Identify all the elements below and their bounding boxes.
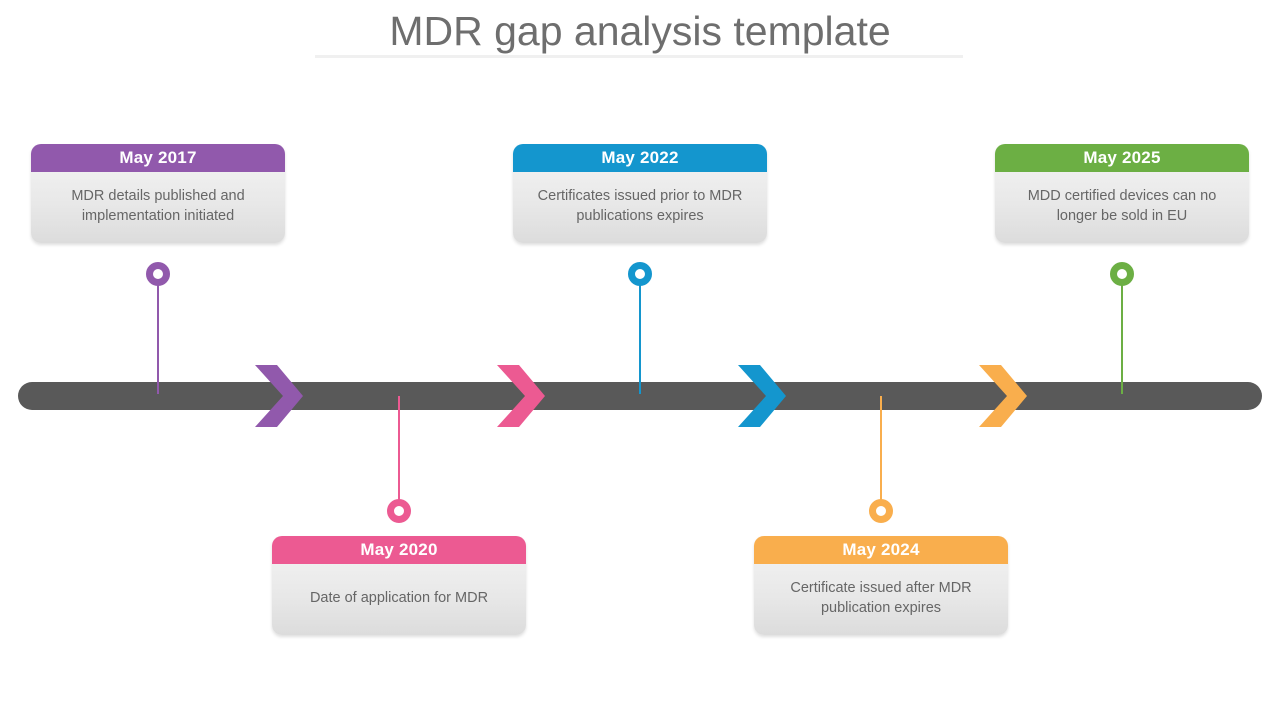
milestone-date: May 2020	[272, 536, 526, 564]
milestone-description: MDD certified devices can no longer be s…	[1009, 186, 1235, 226]
timeline-arrow-may-2017	[253, 363, 305, 429]
milestone-marker-icon	[869, 499, 893, 523]
milestone-date: May 2017	[31, 144, 285, 172]
timeline-infographic: MDR gap analysis template May 2017MDR de…	[0, 0, 1280, 720]
milestone-card[interactable]: May 2024Certificate issued after MDR pub…	[754, 536, 1008, 635]
milestone-date: May 2025	[995, 144, 1249, 172]
milestone-body: Certificate issued after MDR publication…	[754, 564, 1008, 635]
title-divider	[315, 55, 963, 58]
milestone-body: Certificates issued prior to MDR publica…	[513, 172, 767, 243]
milestone-date: May 2022	[513, 144, 767, 172]
milestone-body: MDR details published and implementation…	[31, 172, 285, 243]
milestone-card[interactable]: May 2017MDR details published and implem…	[31, 144, 285, 243]
milestone-marker-icon	[387, 499, 411, 523]
milestone-date: May 2024	[754, 536, 1008, 564]
milestone-body: Date of application for MDR	[272, 564, 526, 635]
timeline-arrow-may-2022	[736, 363, 788, 429]
connector-line	[157, 284, 159, 394]
milestone-description: MDR details published and implementation…	[45, 186, 271, 226]
milestone-marker-icon	[1110, 262, 1134, 286]
connector-line	[398, 396, 400, 504]
connector-line	[880, 396, 882, 504]
page-title: MDR gap analysis template	[0, 8, 1280, 55]
milestone-card[interactable]: May 2025MDD certified devices can no lon…	[995, 144, 1249, 243]
milestone-description: Certificates issued prior to MDR publica…	[527, 186, 753, 226]
milestone-body: MDD certified devices can no longer be s…	[995, 172, 1249, 243]
connector-line	[639, 284, 641, 394]
timeline-arrow-may-2020	[495, 363, 547, 429]
milestone-card[interactable]: May 2022Certificates issued prior to MDR…	[513, 144, 767, 243]
timeline-arrow-may-2024	[977, 363, 1029, 429]
milestone-card[interactable]: May 2020Date of application for MDR	[272, 536, 526, 635]
milestone-description: Date of application for MDR	[310, 588, 488, 608]
connector-line	[1121, 284, 1123, 394]
milestone-marker-icon	[628, 262, 652, 286]
milestone-marker-icon	[146, 262, 170, 286]
milestone-description: Certificate issued after MDR publication…	[768, 578, 994, 618]
